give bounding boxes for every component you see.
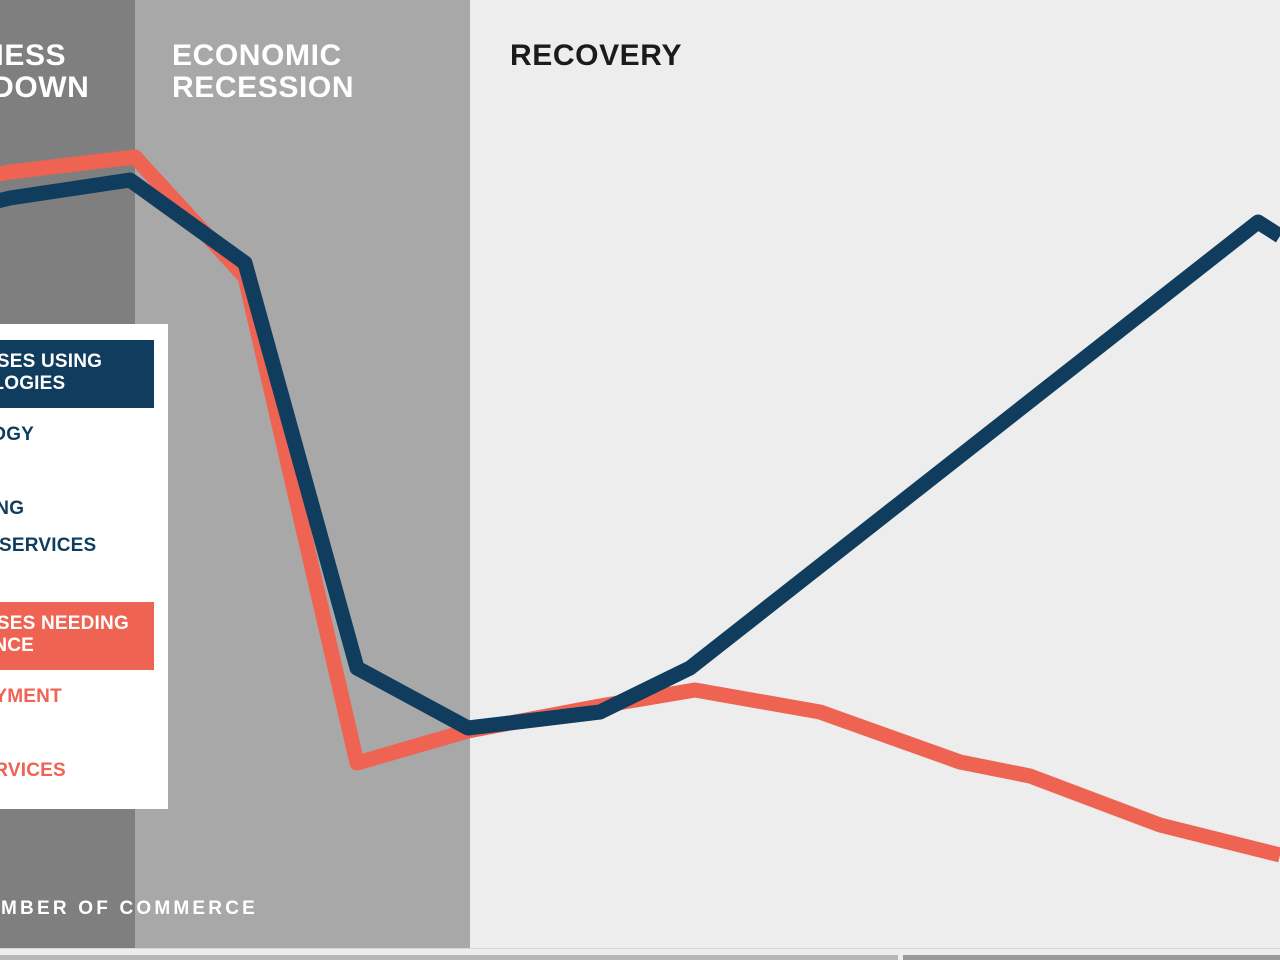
legend-swatch-businesses-needing-assistance: BUSINESSES NEEDING ASSISTANCE xyxy=(0,602,154,670)
horizontal-scrollbar-thumb-left[interactable] xyxy=(0,955,898,960)
legend-swatch-businesses-using-technologies: BUSINESSES USING TECHNOLOGIES xyxy=(0,340,154,408)
horizontal-scrollbar-track[interactable] xyxy=(0,948,1280,960)
legend-sublabels-coral: UNEMPLOYMENT LIQUIDITY LEGAL SERVICES xyxy=(0,678,154,789)
horizontal-scrollbar-thumb-right[interactable] xyxy=(903,955,1280,960)
legend-sublabels-navy: TECHNOLOGY CONSULTING DELIVERY SERVICES xyxy=(0,416,154,564)
chart-canvas: BUSINESS SHUTDOWN ECONOMIC RECESSION REC… xyxy=(0,0,1280,960)
phase-label-business-shutdown: BUSINESS SHUTDOWN xyxy=(0,40,89,104)
chart-legend: BUSINESSES USING TECHNOLOGIES TECHNOLOGY… xyxy=(0,324,168,809)
band-recovery xyxy=(470,0,1280,960)
source-attribution: U.S. CHAMBER OF COMMERCE xyxy=(0,898,258,920)
phase-label-economic-recession: ECONOMIC RECESSION xyxy=(172,40,354,104)
legend-group-coral: BUSINESSES NEEDING ASSISTANCE UNEMPLOYME… xyxy=(0,602,168,789)
legend-group-navy: BUSINESSES USING TECHNOLOGIES TECHNOLOGY… xyxy=(0,340,168,564)
legend-spacer xyxy=(0,568,168,602)
phase-label-recovery: RECOVERY xyxy=(510,40,682,72)
band-economic-recession xyxy=(135,0,470,960)
